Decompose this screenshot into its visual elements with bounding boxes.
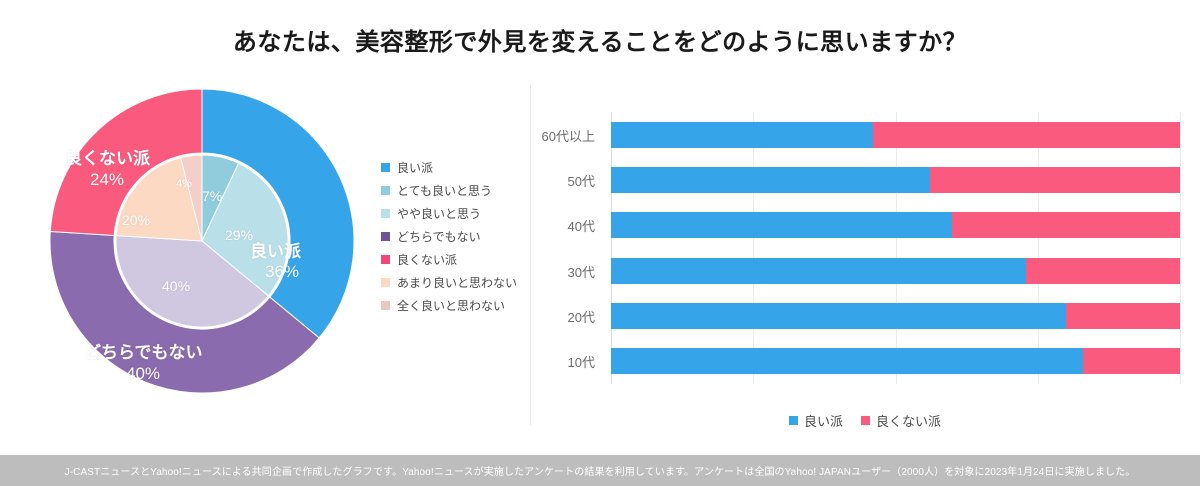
footer-note: J-CASTニュースとYahoo!ニュースによる共同企画で作成したグラフです。Y… xyxy=(65,463,1136,478)
pie-legend-item[interactable]: 良い派 xyxy=(381,156,517,179)
pie-legend-swatch-icon xyxy=(381,186,390,195)
bar-row xyxy=(611,212,1180,238)
bar-legend-item[interactable]: 良くない派 xyxy=(861,411,941,430)
bar-segment-good[interactable] xyxy=(611,303,1066,329)
bar-plot-area xyxy=(611,112,1180,384)
pie-inner-value-somewhat-good: 29% xyxy=(225,227,253,243)
bar-segment-good[interactable] xyxy=(611,167,930,193)
pie-outer-label-neutral: どちらでもない xyxy=(84,338,203,363)
pie-legend-label: 良くない派 xyxy=(397,251,457,268)
bar-category-label: 20代 xyxy=(568,307,595,326)
pie-legend-label: 良い派 xyxy=(397,159,433,176)
pie-legend-swatch-icon xyxy=(381,278,390,287)
bar-category-label: 40代 xyxy=(568,216,595,235)
pie-legend-swatch-icon xyxy=(381,301,390,310)
bar-segment-bad[interactable] xyxy=(952,212,1180,238)
pie-legend-swatch-icon xyxy=(381,255,390,264)
bar-segment-good[interactable] xyxy=(611,348,1083,374)
page-title: あなたは、美容整形で外見を変えることをどのように思いますか？ xyxy=(0,22,1200,57)
pie-inner-value-not-at-all: 4% xyxy=(176,178,192,190)
pie-legend-label: どちらでもない xyxy=(397,228,481,245)
stacked-bar-chart: 60代以上50代40代30代20代10代 xyxy=(530,100,1200,430)
pie-inner-value-very-good: 7% xyxy=(202,188,222,204)
bar-legend-swatch-icon xyxy=(861,416,870,425)
bar-row xyxy=(611,258,1180,284)
pie-outer-value-bad: 24% xyxy=(90,170,124,190)
pie-legend-item[interactable]: 良くない派 xyxy=(381,248,517,271)
pie-legend-swatch-icon xyxy=(381,209,390,218)
pie-inner-value-neutral: 40% xyxy=(162,278,190,294)
pie-legend-item[interactable]: やや良いと思う xyxy=(381,202,517,225)
bar-category-label: 30代 xyxy=(568,262,595,281)
pie-legend-swatch-icon xyxy=(381,163,390,172)
bar-legend-swatch-icon xyxy=(789,416,798,425)
bar-segment-bad[interactable] xyxy=(873,122,1180,148)
pie-legend-item[interactable]: どちらでもない xyxy=(381,225,517,248)
bar-segment-bad[interactable] xyxy=(1066,303,1180,329)
pie-legend-label: 全く良いと思わない xyxy=(397,297,505,314)
bar-segment-good[interactable] xyxy=(611,258,1026,284)
pie-outer-value-neutral: 40% xyxy=(126,364,160,384)
bar-row xyxy=(611,348,1180,374)
bar-axis-line xyxy=(611,112,612,384)
bar-gridline xyxy=(1180,112,1181,384)
bar-row xyxy=(611,122,1180,148)
bar-segment-bad[interactable] xyxy=(930,167,1180,193)
bar-segment-good[interactable] xyxy=(611,212,952,238)
pie-legend-label: とても良いと思う xyxy=(397,182,492,199)
chart-page: あなたは、美容整形で外見を変えることをどのように思いますか？ 良い派 36% ど… xyxy=(0,0,1200,486)
bar-category-label: 60代以上 xyxy=(542,126,595,145)
pie-legend-label: やや良いと思う xyxy=(397,205,481,222)
bar-legend: 良い派良くない派 xyxy=(530,411,1200,430)
footer-bar: J-CASTニュースとYahoo!ニュースによる共同企画で作成したグラフです。Y… xyxy=(0,455,1200,486)
pie-legend-item[interactable]: とても良いと思う xyxy=(381,179,517,202)
bar-row xyxy=(611,303,1180,329)
pie-outer-label-good: 良い派 xyxy=(250,237,301,262)
bar-legend-item[interactable]: 良い派 xyxy=(789,411,843,430)
pie-outer-value-good: 36% xyxy=(265,262,299,282)
donut-pie-chart: 良い派 36% どちらでもない 40% 良くない派 24% 7% 29% 40%… xyxy=(33,72,371,410)
bar-gridline xyxy=(1038,112,1039,384)
bar-legend-label: 良い派 xyxy=(804,411,843,430)
bar-gridline xyxy=(896,112,897,384)
bar-gridline xyxy=(753,112,754,384)
bar-segment-good[interactable] xyxy=(611,122,873,148)
bar-category-label: 50代 xyxy=(568,171,595,190)
pie-outer-label-bad: 良くない派 xyxy=(65,144,150,169)
bar-row xyxy=(611,167,1180,193)
pie-legend-item[interactable]: 全く良いと思わない xyxy=(381,294,517,317)
pie-inner-value-not-much: 20% xyxy=(122,212,150,228)
pie-legend-swatch-icon xyxy=(381,232,390,241)
pie-legend-label: あまり良いと思わない xyxy=(397,274,517,291)
bar-legend-label: 良くない派 xyxy=(876,411,941,430)
bar-category-label: 10代 xyxy=(568,352,595,371)
pie-legend: 良い派とても良いと思うやや良いと思うどちらでもない良くない派あまり良いと思わない… xyxy=(381,156,517,317)
bar-segment-bad[interactable] xyxy=(1083,348,1180,374)
bar-category-axis: 60代以上50代40代30代20代10代 xyxy=(530,112,603,384)
bar-segment-bad[interactable] xyxy=(1026,258,1180,284)
pie-legend-item[interactable]: あまり良いと思わない xyxy=(381,271,517,294)
